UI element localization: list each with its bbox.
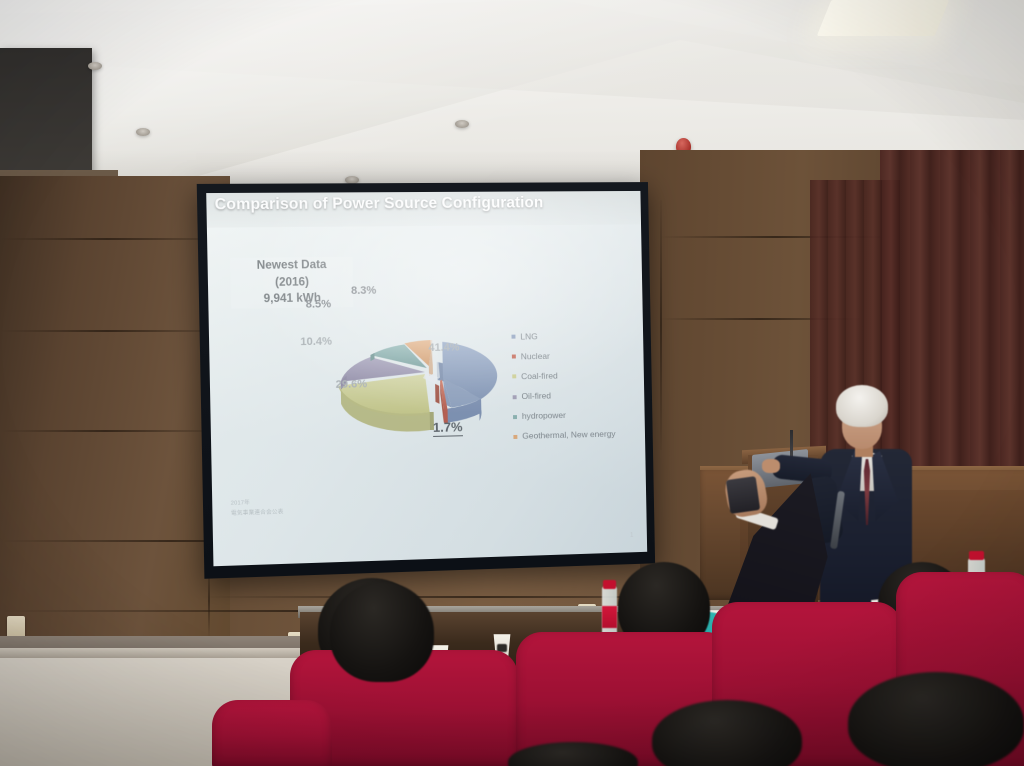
downlight-icon: [455, 120, 469, 128]
legend-label: Nuclear: [521, 352, 550, 361]
legend-label: hydropower: [522, 411, 566, 421]
pie-chart: [311, 291, 524, 460]
presenter-hand: [762, 459, 780, 473]
chart-legend: LNG Nuclear Coal-fired Oil-fired: [511, 331, 647, 453]
legend-swatch-icon: [511, 335, 515, 339]
phone-icon: [726, 476, 760, 514]
legend-item-lng[interactable]: LNG: [511, 331, 647, 342]
wall-seam: [0, 330, 214, 332]
pie-label-hydropower: 8.5%: [306, 298, 332, 310]
pie-label-geothermal: 8.3%: [351, 285, 377, 297]
legend-item-oil-fired[interactable]: Oil-fired: [513, 390, 648, 401]
legend-label: Oil-fired: [521, 392, 551, 401]
newest-data-line2: (2016): [230, 274, 353, 292]
downlight-icon: [88, 62, 102, 70]
pie-label-nuclear: 1.7%: [433, 419, 463, 437]
ceiling-soffit: [0, 48, 92, 178]
slide-title: Comparison of Power Source Configuration: [215, 195, 632, 214]
slide: Comparison of Power Source Configuration…: [206, 191, 647, 566]
legend-swatch-icon: [512, 355, 516, 359]
pie-label-coal-fired: 29.6%: [336, 378, 368, 391]
legend-item-coal-fired[interactable]: Coal-fired: [512, 370, 647, 381]
audience-head: [330, 582, 434, 682]
bottle-cap: [969, 551, 984, 560]
slide-footer-line2: 電気事業連合会公表: [231, 508, 284, 519]
ceiling-light-panel: [817, 0, 950, 36]
legend-swatch-icon: [513, 415, 517, 419]
slide-page-number: 1: [630, 533, 633, 539]
pie-chart-svg: [311, 291, 524, 460]
pie-label-lng: 41.4%: [428, 342, 459, 355]
legend-item-nuclear[interactable]: Nuclear: [512, 350, 647, 361]
wall-seam: [660, 200, 662, 450]
legend-swatch-icon: [512, 375, 516, 379]
audience-head: [848, 672, 1024, 766]
newest-data-line1: Newest Data: [230, 257, 353, 275]
legend-label: Geothermal, New energy: [522, 430, 615, 441]
pie-label-oil-fired: 10.4%: [300, 336, 332, 349]
legend-item-hydropower[interactable]: hydropower: [513, 410, 647, 422]
projection-screen-surface: Comparison of Power Source Configuration…: [206, 191, 647, 566]
auditorium-seat[interactable]: [212, 700, 332, 766]
legend-label: Coal-fired: [521, 372, 558, 381]
slide-footer: 2017年 電気事業連合会公表: [231, 498, 284, 518]
bottle-label: [602, 606, 617, 628]
projection-screen[interactable]: Comparison of Power Source Configuration…: [197, 182, 655, 579]
wall-seam: [0, 238, 214, 240]
bottle-cap: [603, 580, 616, 589]
wall-seam: [0, 430, 210, 432]
legend-swatch-icon: [513, 395, 517, 399]
conference-room-scene: Comparison of Power Source Configuration…: [0, 0, 1024, 766]
legend-item-geothermal-new-energy[interactable]: Geothermal, New energy: [513, 429, 647, 441]
legend-swatch-icon: [513, 435, 517, 439]
wall-outlet: [7, 616, 25, 638]
legend-label: LNG: [520, 332, 538, 341]
presenter-hair: [836, 385, 888, 427]
left-wall: [0, 176, 230, 646]
downlight-icon: [136, 128, 150, 136]
